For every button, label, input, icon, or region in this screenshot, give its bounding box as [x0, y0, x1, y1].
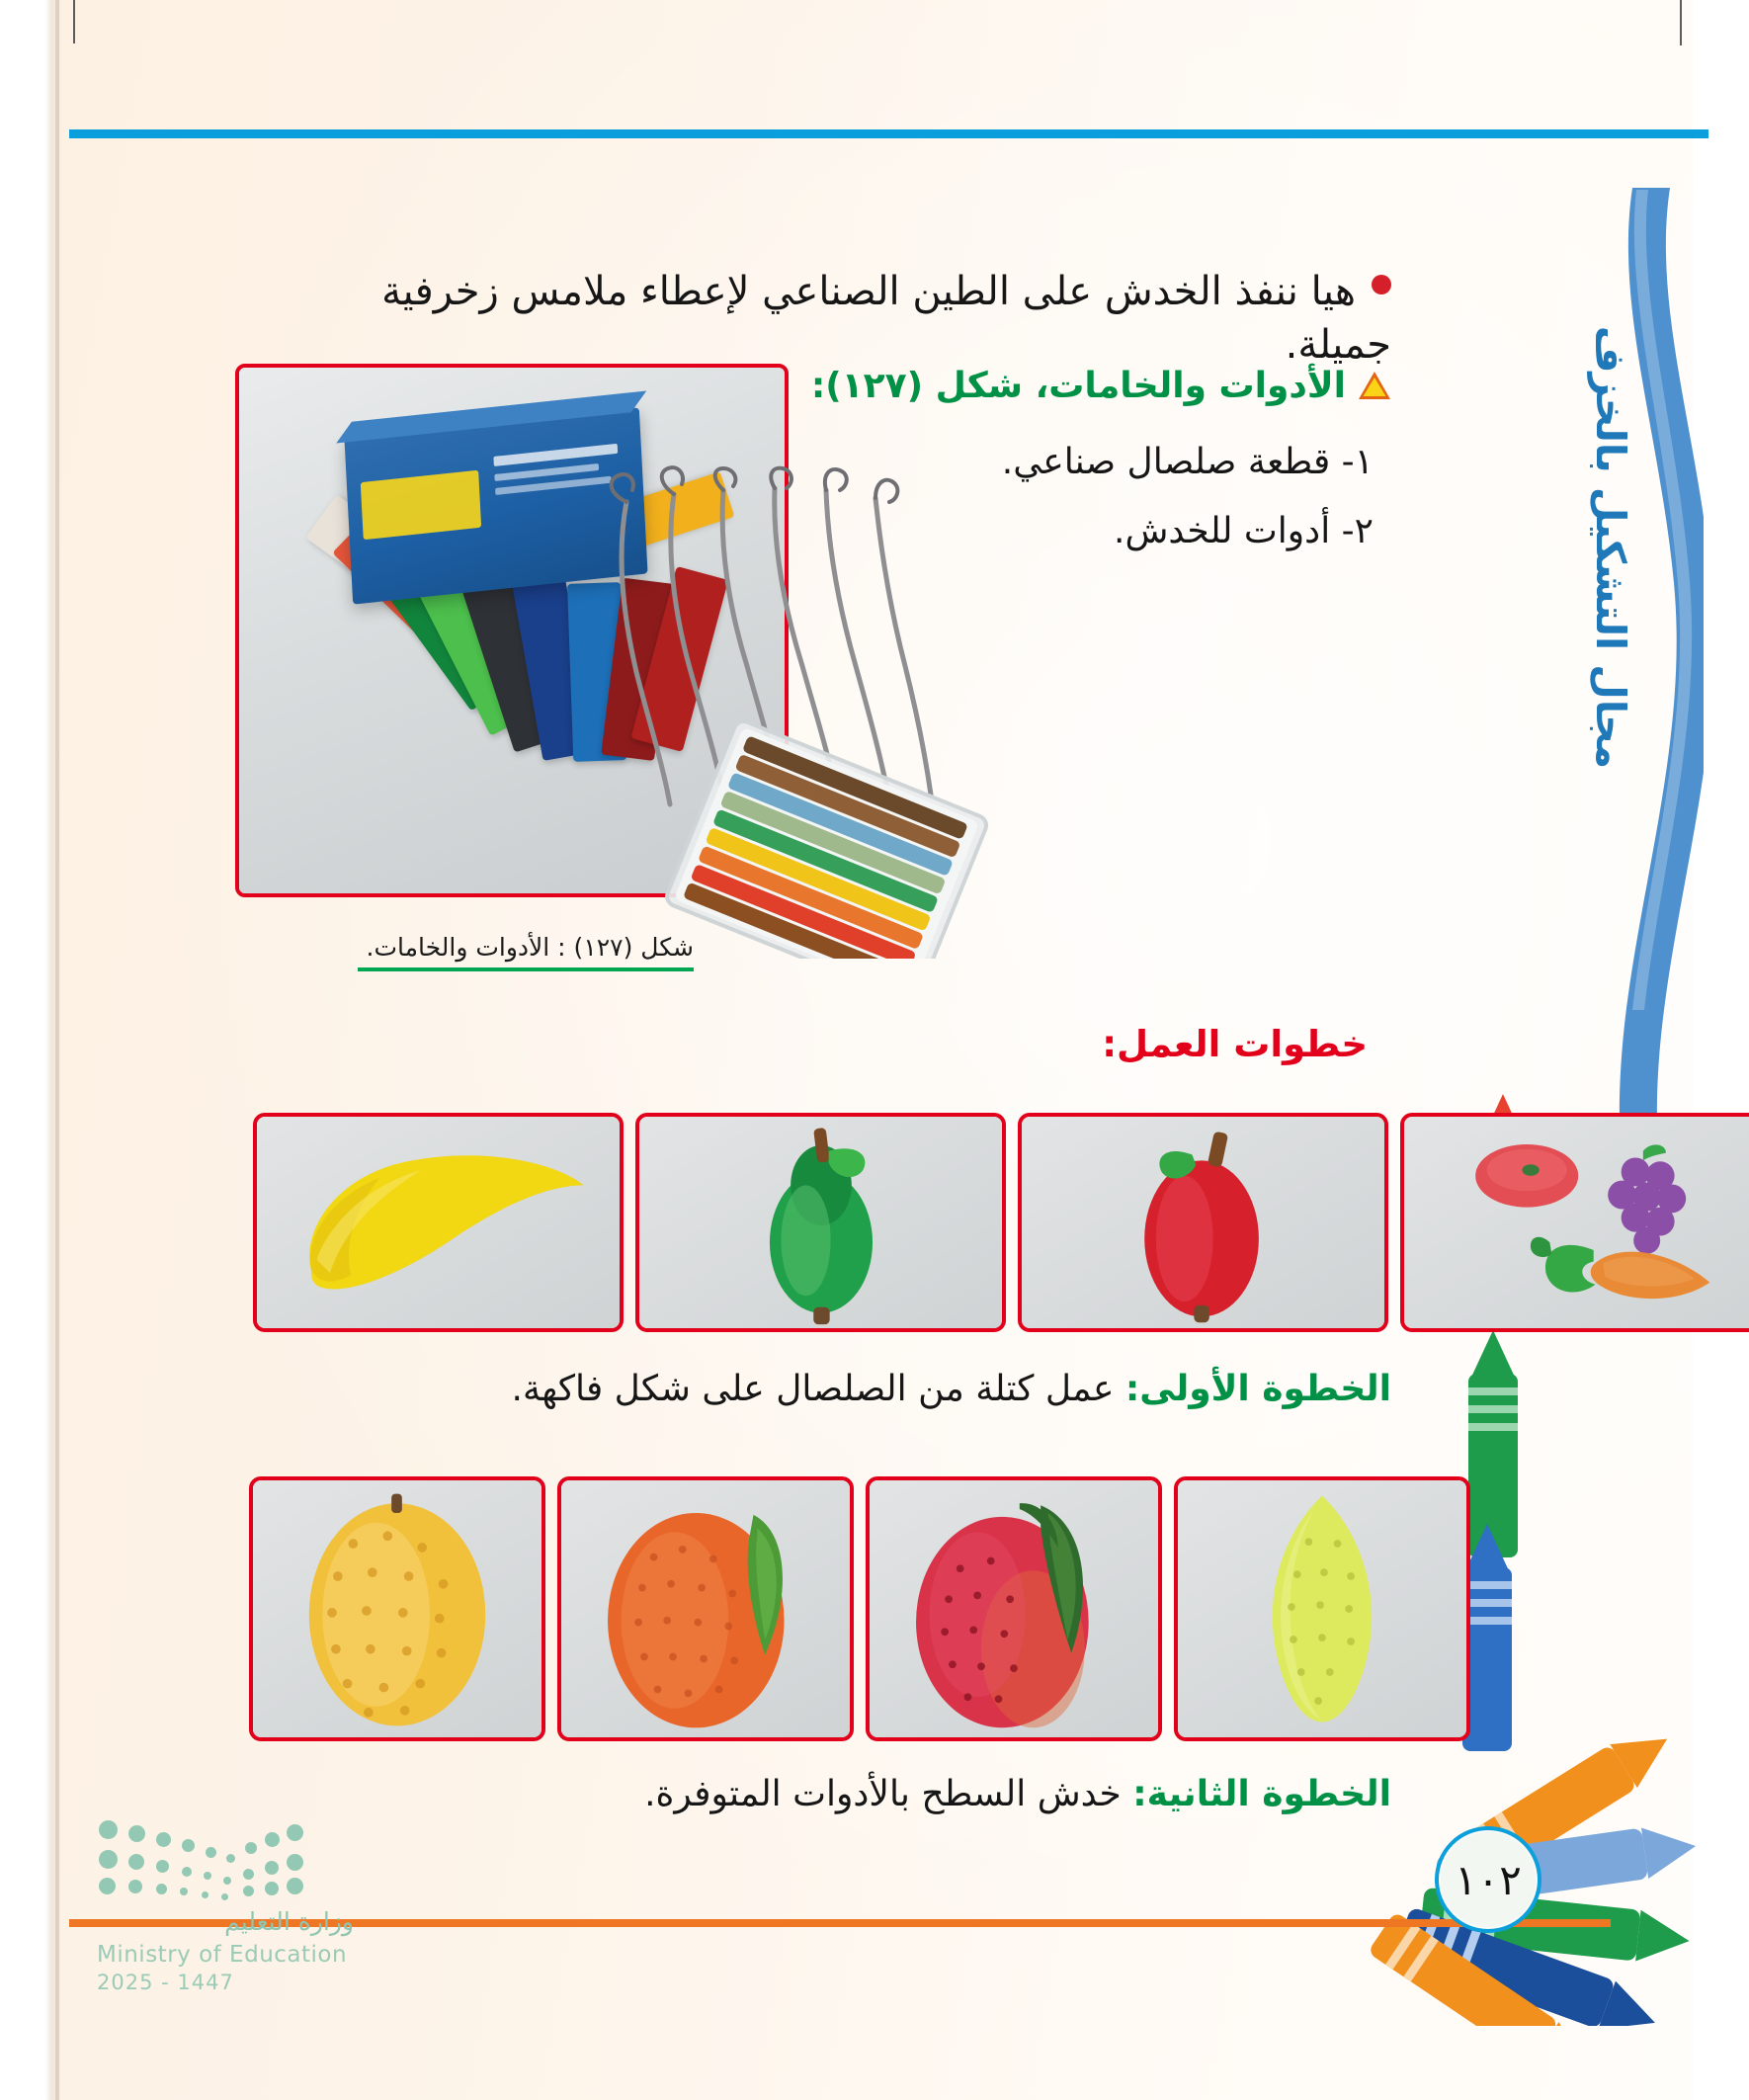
materials-heading-text: الأدوات والخامات، شكل (١٢٧):	[811, 366, 1346, 406]
step-one-photo-row	[253, 1113, 1749, 1332]
step-two-label: الخطوة الثانية:	[1132, 1774, 1391, 1814]
warning-triangle-icon	[1358, 371, 1391, 400]
top-accent-rule	[69, 129, 1708, 138]
ministry-logo: وزارة التعليم Ministry of Education 2025…	[97, 1816, 354, 2024]
figure-caption-underline	[358, 967, 694, 971]
ministry-years: 2025 - 1447	[97, 1971, 354, 1994]
scratched-strawberry-shape	[870, 1480, 1158, 1737]
chapter-tab-label: مجال التشكيل بالخزف	[1587, 241, 1634, 854]
textbook-page: مجال التشكيل بالخزف	[0, 0, 1749, 2100]
figure-caption: شكل (١٢٧) : الأدوات والخامات.	[259, 933, 694, 971]
intro-bullet-line: هيا ننفذ الخدش على الطين الصناعي لإعطاء …	[304, 265, 1391, 372]
figure-caption-text: شكل (١٢٧) : الأدوات والخامات.	[367, 933, 694, 962]
mixed-fruit-clay-photo	[1400, 1113, 1749, 1332]
pear-clay-photo	[635, 1113, 1006, 1332]
scratched-lemon-shape	[1178, 1480, 1466, 1737]
scratched-orange-fruit-photo	[557, 1476, 854, 1741]
banana-clay-photo	[253, 1113, 624, 1332]
page-edge-shadow	[55, 0, 59, 2100]
step-two-photo-row	[249, 1476, 1470, 1741]
step-one-text: عمل كتلة من الصلصال على شكل فاكهة.	[512, 1369, 1115, 1409]
scratched-orange-fruit-shape	[561, 1480, 850, 1737]
scratched-yellow-fruit-shape	[253, 1480, 541, 1737]
scratched-lemon-photo	[1174, 1476, 1470, 1741]
banana-shape	[257, 1117, 620, 1328]
scratching-tools-photo	[593, 464, 1008, 959]
step-one-label: الخطوة الأولى:	[1125, 1369, 1391, 1409]
scratched-strawberry-photo	[866, 1476, 1162, 1741]
red-dot-bullet-icon	[1372, 275, 1391, 294]
ministry-name-ar: وزارة التعليم	[97, 1907, 354, 1936]
ministry-emblem-dots	[97, 1816, 309, 1893]
pear-shape	[639, 1117, 1002, 1328]
scratched-yellow-fruit-photo	[249, 1476, 545, 1741]
intro-bullet-text: هيا ننفذ الخدش على الطين الصناعي لإعطاء …	[381, 269, 1391, 368]
crop-mark-top-right	[1680, 0, 1682, 45]
chapter-side-tab: مجال التشكيل بالخزف	[1514, 148, 1721, 1186]
crop-mark-top-left	[73, 0, 75, 43]
steps-heading: خطوات العمل:	[775, 1023, 1368, 1065]
step-one-line: الخطوة الأولى: عمل كتلة من الصلصال على ش…	[245, 1369, 1391, 1409]
step-two-line: الخطوة الثانية: خدش السطح بالأدوات المتو…	[245, 1774, 1391, 1814]
ministry-name-en: Ministry of Education	[97, 1942, 354, 1968]
page-number-badge: ١٠٢	[1435, 1826, 1541, 1933]
apple-shape	[1022, 1117, 1384, 1328]
mixed-fruit-shapes	[1404, 1117, 1749, 1328]
step-two-text: خدش السطح بالأدوات المتوفرة.	[644, 1774, 1122, 1814]
apple-clay-photo	[1018, 1113, 1388, 1332]
